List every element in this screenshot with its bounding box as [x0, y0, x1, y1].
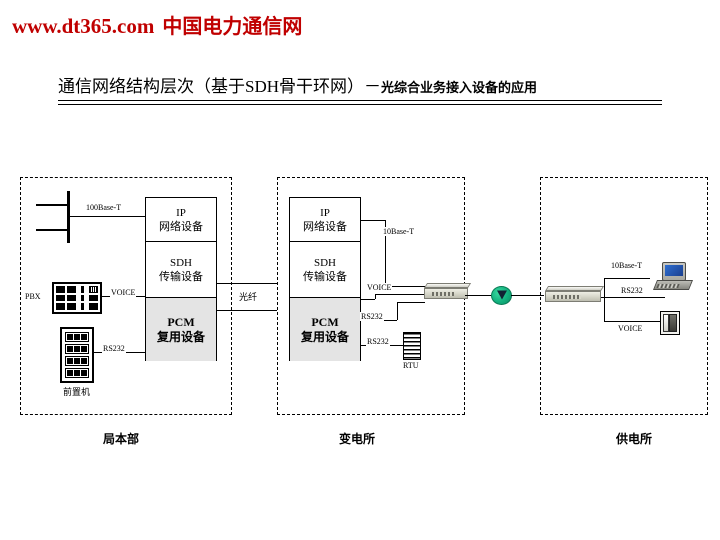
sub-lan-wire-h: [361, 220, 385, 221]
stack-hq-cell-ip: IP 网络设备: [146, 198, 216, 242]
fiber-wire-bottom: [217, 310, 277, 311]
sup-lan-wire-h: [604, 278, 650, 279]
label-hq-voice: VOICE: [110, 288, 136, 297]
stack-sub-sdh-line2: 传输设备: [303, 270, 347, 284]
title-sub: 光综合业务接入设备的应用: [381, 80, 537, 95]
stack-hq-sdh-line1: SDH: [170, 256, 192, 270]
label-fiber: 光纤: [238, 290, 258, 303]
pbx-led: [89, 295, 98, 302]
label-pbx: PBX: [24, 292, 42, 301]
zone-label-supply: 供电所: [616, 430, 652, 447]
device-ports: [553, 295, 581, 299]
zone-label-substation: 变电所: [339, 430, 375, 447]
rack-shelf: [65, 344, 89, 354]
watermark-header: www.dt365.com中国电力通信网: [12, 10, 302, 39]
title-underline: [58, 100, 662, 105]
stack-sub-cell-sdh: SDH 传输设备: [290, 242, 360, 298]
lan-bus-stub-bottom: [36, 229, 68, 231]
stack-hq-cell-pcm: PCM 复用设备: [146, 298, 216, 361]
stack-sub-sdh-line1: SDH: [314, 256, 336, 270]
sup-rs232-wire: [601, 297, 665, 298]
stack-hq-pcm-line2: 复用设备: [157, 330, 205, 345]
pbx-led: [67, 303, 76, 310]
label-sub-voice: VOICE: [366, 283, 392, 292]
stack-hq-pcm-line1: PCM: [167, 315, 194, 330]
page-title: 通信网络结构层次（基于SDH骨干环网）－光综合业务接入设备的应用: [58, 72, 662, 97]
device-front-face: [424, 288, 468, 299]
fiber-wire-top: [217, 283, 277, 284]
rack-shelf: [65, 368, 89, 378]
rack-shelf: [65, 356, 89, 366]
label-hq-rs232: RS232: [102, 344, 126, 353]
sup-voice-wire-h: [604, 321, 660, 322]
title-main: 通信网络结构层次（基于SDH骨干环网）－: [58, 77, 381, 96]
pbx-led: [56, 303, 65, 310]
desktop-computer-icon: [655, 262, 695, 292]
rack-shelf: [65, 332, 89, 342]
sup-voice-wire-v: [604, 299, 605, 321]
label-hq-lan: 100Base-T: [85, 203, 122, 212]
pbx-led: [89, 303, 98, 310]
stack-sub-ip-line1: IP: [320, 206, 330, 220]
pbx-led: [56, 295, 65, 302]
computer-monitor: [662, 262, 686, 281]
label-sup-voice: VOICE: [617, 324, 643, 333]
sub-rs232a-wire-v: [397, 302, 398, 320]
optical-access-device-supply: [545, 286, 601, 302]
stack-sub-cell-pcm: PCM 复用设备: [290, 298, 360, 361]
sub-rs232a-wire-h2: [397, 302, 425, 303]
fiber-ring-node-icon: [491, 286, 512, 305]
sub-voice-wire-h: [361, 299, 375, 300]
pbx-led: [67, 295, 76, 302]
sub-voice-wire-h2: [375, 294, 425, 295]
stack-sub-ip-line2: 网络设备: [303, 220, 347, 234]
stack-sub-cell-ip: IP 网络设备: [290, 198, 360, 242]
stack-sub-pcm-line2: 复用设备: [301, 330, 349, 345]
pbx-icon: [52, 282, 102, 314]
stack-hq-sdh-line2: 传输设备: [159, 270, 203, 284]
slide-canvas: www.dt365.com中国电力通信网 通信网络结构层次（基于SDH骨干环网）…: [0, 0, 720, 540]
lan-bus-stub-top: [36, 204, 68, 206]
label-sub-rs232-a: RS232: [360, 312, 384, 321]
label-sup-rs232: RS232: [620, 286, 644, 295]
stack-sub-pcm-line1: PCM: [311, 315, 338, 330]
zone-label-hq: 局本部: [103, 430, 139, 447]
stack-hq-cell-sdh: SDH 传输设备: [146, 242, 216, 298]
label-sub-lan: 10Base-T: [382, 227, 415, 236]
stack-hq-ip-line1: IP: [176, 206, 186, 220]
computer-keyboard: [656, 284, 680, 288]
telephone-icon: [660, 311, 680, 335]
stack-hq: IP 网络设备 SDH 传输设备 PCM 复用设备: [145, 197, 217, 361]
stack-hq-ip-line2: 网络设备: [159, 220, 203, 234]
device-front-face: [545, 291, 601, 302]
optical-access-device-substation: [424, 283, 468, 299]
watermark-site-name: 中国电力通信网: [162, 16, 302, 38]
label-front-end: 前置机: [62, 385, 91, 398]
pbx-vent: [89, 286, 98, 293]
pbx-led: [81, 295, 84, 302]
stack-substation: IP 网络设备 SDH 传输设备 PCM 复用设备: [289, 197, 361, 361]
label-sub-rs232-b: RS232: [366, 337, 390, 346]
front-end-rack-icon: [60, 327, 94, 383]
label-rtu: RTU: [402, 361, 420, 370]
pbx-led: [81, 303, 84, 310]
lan-bus-bar: [67, 191, 70, 243]
rtu-icon: [403, 332, 421, 360]
device-ports: [432, 292, 454, 296]
watermark-url: www.dt365.com: [12, 14, 154, 38]
node-wire-left: [465, 295, 493, 296]
lan-bus-to-ip-wire: [69, 216, 145, 217]
pbx-led: [56, 286, 65, 293]
label-sup-lan: 10Base-T: [610, 261, 643, 270]
telephone-body: [669, 314, 677, 332]
pbx-led: [81, 286, 84, 293]
pbx-led: [67, 286, 76, 293]
title-block: 通信网络结构层次（基于SDH骨干环网）－光综合业务接入设备的应用: [58, 72, 662, 105]
